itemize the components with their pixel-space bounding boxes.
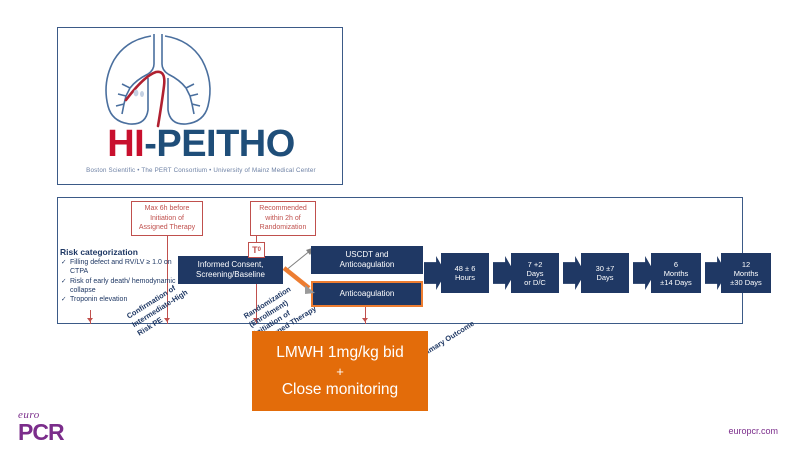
europcr-logo-pcr: PCR bbox=[18, 421, 78, 444]
timeline-box-12-months: 12 Months ±30 Days bbox=[721, 253, 771, 293]
note-recommended-within-2h: Recommended within 2h of Randomization bbox=[250, 201, 316, 236]
branch-arrow-to-anticoagulation bbox=[283, 266, 317, 296]
timeline-box-30-days: 30 ±7 Days bbox=[581, 253, 629, 293]
note-max-6h-before-initiation: Max 6h before Initiation of Assigned The… bbox=[131, 201, 203, 236]
lungs-with-catheter-illustration bbox=[96, 30, 232, 128]
risk-criterion: Risk of early death/ hemodynamic collaps… bbox=[60, 277, 178, 295]
callout-plus-sign: + bbox=[336, 364, 344, 379]
footer-website-url: europcr.com bbox=[728, 426, 778, 436]
timeline-box-48-hours: 48 ± 6 Hours bbox=[441, 253, 489, 293]
box-uscdt-and-anticoagulation: USCDT and Anticoagulation bbox=[311, 246, 423, 274]
risk-criteria-list: Filling defect and RV/LV ≥ 1.0 on CTPA R… bbox=[60, 258, 178, 304]
risk-categorization-block: Risk categorization Filling defect and R… bbox=[60, 247, 178, 305]
red-arrow-therapy bbox=[362, 318, 368, 322]
lmwh-close-monitoring-callout: LMWH 1mg/kg bid + Close monitoring bbox=[252, 331, 428, 411]
callout-line-2: Close monitoring bbox=[282, 379, 398, 401]
t0-subscript: 0 bbox=[258, 247, 261, 253]
timeline-box-7-days: 7 +2 Days or D/C bbox=[511, 253, 559, 293]
box-informed-consent-screening: Informed Consent, Screening/Baseline bbox=[178, 256, 283, 284]
risk-criterion: Filling defect and RV/LV ≥ 1.0 on CTPA bbox=[60, 258, 178, 276]
risk-categorization-title: Risk categorization bbox=[60, 247, 178, 257]
t0-time-marker: T0 bbox=[248, 242, 265, 258]
europcr-logo: euro PCR bbox=[18, 410, 78, 444]
logo-wordmark-peitho: -PEITHO bbox=[144, 123, 295, 165]
logo-wordmark-hi: HI bbox=[107, 123, 144, 165]
logo-wordmark: HI-PEITHO bbox=[58, 123, 344, 165]
red-arrow-confirmation bbox=[87, 318, 93, 322]
logo-subtitle: Boston Scientific • The PERT Consortium … bbox=[58, 167, 344, 174]
box-anticoagulation-highlighted: Anticoagulation bbox=[311, 281, 423, 307]
hi-peitho-logo-panel: HI-PEITHO Boston Scientific • The PERT C… bbox=[57, 27, 343, 185]
timeline-box-6-months: 6 Months ±14 Days bbox=[651, 253, 701, 293]
risk-criterion: Troponin elevation bbox=[60, 295, 178, 304]
callout-line-1: LMWH 1mg/kg bid bbox=[276, 342, 403, 364]
